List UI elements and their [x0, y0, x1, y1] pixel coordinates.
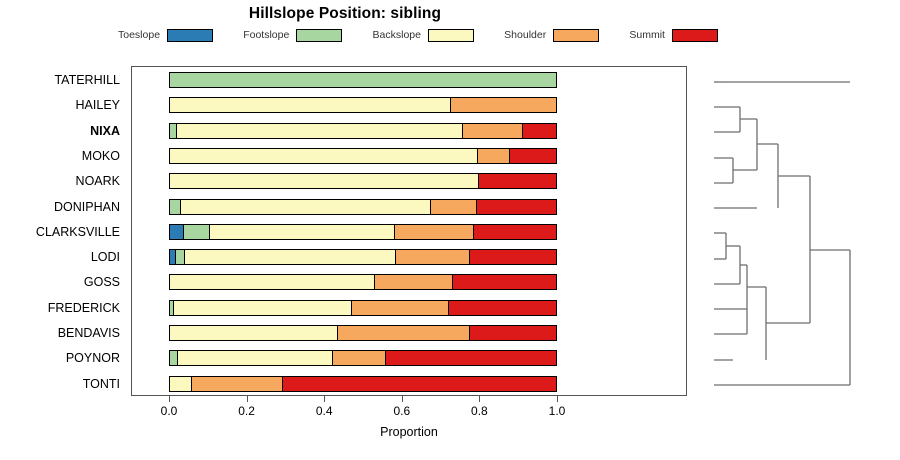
x-axis-tick-label: 0.2: [238, 404, 255, 418]
bar-segment-backslope: [170, 149, 477, 163]
bar-segment-shoulder: [450, 98, 556, 112]
x-axis-tick-label: 0.4: [316, 404, 333, 418]
bar-segment-summit: [476, 200, 556, 214]
bar-segment-shoulder: [374, 275, 453, 289]
bar-segment-summit: [282, 377, 556, 391]
stacked-bar-clarksville: [169, 224, 557, 240]
bar-segment-footslope: [183, 225, 209, 239]
bars-container: [169, 66, 557, 396]
legend-item-shoulder: Shoulder: [504, 29, 599, 42]
y-axis-label-tonti: TONTI: [83, 378, 120, 391]
legend-label: Shoulder: [504, 29, 546, 41]
y-axis-label-noark: NOARK: [76, 175, 120, 188]
x-axis-tick: [557, 396, 558, 402]
bar-segment-summit: [509, 149, 556, 163]
legend-label: Footslope: [243, 29, 289, 41]
bar-segment-backslope: [176, 124, 462, 138]
stacked-bar-tonti: [169, 376, 557, 392]
bar-segment-backslope: [170, 275, 374, 289]
bar-segment-backslope: [177, 351, 332, 365]
stacked-bar-taterhill: [169, 72, 557, 88]
bar-segment-summit: [522, 124, 556, 138]
bar-segment-footslope: [170, 351, 177, 365]
bar-segment-summit: [469, 326, 556, 340]
bar-segment-shoulder: [430, 200, 477, 214]
x-axis-title: Proportion: [131, 425, 687, 439]
legend-swatch: [167, 29, 213, 42]
bar-segment-shoulder: [337, 326, 469, 340]
x-axis-tick-label: 1.0: [549, 404, 566, 418]
bar-segment-shoulder: [394, 225, 473, 239]
legend-swatch: [672, 29, 718, 42]
stacked-bar-frederick: [169, 300, 557, 316]
legend-item-footslope: Footslope: [243, 29, 342, 42]
legend-label: Toeslope: [118, 29, 160, 41]
bar-segment-shoulder: [191, 377, 282, 391]
y-axis-label-frederick: FREDERICK: [48, 302, 120, 315]
bar-segment-toeslope: [170, 225, 183, 239]
x-axis-tick-label: 0.8: [471, 404, 488, 418]
bar-segment-backslope: [173, 301, 351, 315]
bar-segment-backslope: [184, 250, 395, 264]
y-axis-labels: TATERHILLHAILEYNIXAMOKONOARKDONIPHANCLAR…: [0, 66, 126, 396]
legend-swatch: [553, 29, 599, 42]
x-axis-tick-label: 0.6: [393, 404, 410, 418]
stacked-bar-nixa: [169, 123, 557, 139]
bar-segment-shoulder: [462, 124, 522, 138]
stacked-bar-doniphan: [169, 199, 557, 215]
bar-segment-summit: [469, 250, 556, 264]
legend: ToeslopeFootslopeBackslopeShoulderSummit: [118, 26, 718, 44]
bar-segment-backslope: [170, 377, 191, 391]
y-axis-label-hailey: HAILEY: [76, 99, 120, 112]
bar-segment-backslope: [209, 225, 393, 239]
bar-segment-shoulder: [395, 250, 469, 264]
bar-segment-shoulder: [332, 351, 385, 365]
x-axis-tick: [247, 396, 248, 402]
legend-swatch: [428, 29, 474, 42]
bar-segment-backslope: [180, 200, 430, 214]
bar-segment-shoulder: [351, 301, 448, 315]
stacked-bar-goss: [169, 274, 557, 290]
stacked-bar-noark: [169, 173, 557, 189]
bar-segment-footslope: [170, 200, 180, 214]
legend-label: Summit: [629, 29, 665, 41]
bar-segment-backslope: [170, 174, 478, 188]
x-axis-tick: [169, 396, 170, 402]
stacked-bar-bendavis: [169, 325, 557, 341]
x-axis-tick: [402, 396, 403, 402]
y-axis-label-taterhill: TATERHILL: [54, 74, 120, 87]
x-axis-tick: [479, 396, 480, 402]
x-axis-tick-label: 0.0: [161, 404, 178, 418]
bar-segment-summit: [473, 225, 556, 239]
stacked-bar-hailey: [169, 97, 557, 113]
chart-root: Hillslope Position: sibling ToeslopeFoot…: [0, 0, 900, 460]
y-axis-label-moko: MOKO: [82, 150, 120, 163]
dendrogram: [700, 60, 895, 400]
y-axis-label-clarksville: CLARKSVILLE: [36, 226, 120, 239]
chart-title: Hillslope Position: sibling: [0, 5, 795, 23]
bar-segment-summit: [385, 351, 556, 365]
x-axis: 0.00.20.40.60.81.0: [131, 396, 687, 397]
bar-segment-backslope: [170, 326, 337, 340]
y-axis-label-bendavis: BENDAVIS: [58, 327, 120, 340]
bar-segment-summit: [448, 301, 556, 315]
y-axis-label-poynor: POYNOR: [66, 352, 120, 365]
bar-segment-summit: [452, 275, 556, 289]
stacked-bar-lodi: [169, 249, 557, 265]
legend-swatch: [296, 29, 342, 42]
y-axis-label-nixa: NIXA: [90, 125, 120, 138]
y-axis-label-doniphan: DONIPHAN: [54, 201, 120, 214]
dendrogram-svg: [700, 60, 895, 400]
x-axis-tick: [324, 396, 325, 402]
bar-segment-shoulder: [477, 149, 509, 163]
legend-label: Backslope: [373, 29, 421, 41]
bar-segment-backslope: [170, 98, 450, 112]
bar-segment-footslope: [170, 73, 556, 87]
legend-item-toeslope: Toeslope: [118, 29, 213, 42]
stacked-bar-poynor: [169, 350, 557, 366]
legend-item-summit: Summit: [629, 29, 718, 42]
y-axis-label-goss: GOSS: [84, 276, 120, 289]
bar-segment-summit: [478, 174, 556, 188]
legend-item-backslope: Backslope: [373, 29, 474, 42]
bar-segment-footslope: [175, 250, 185, 264]
y-axis-label-lodi: LODI: [91, 251, 120, 264]
stacked-bar-moko: [169, 148, 557, 164]
